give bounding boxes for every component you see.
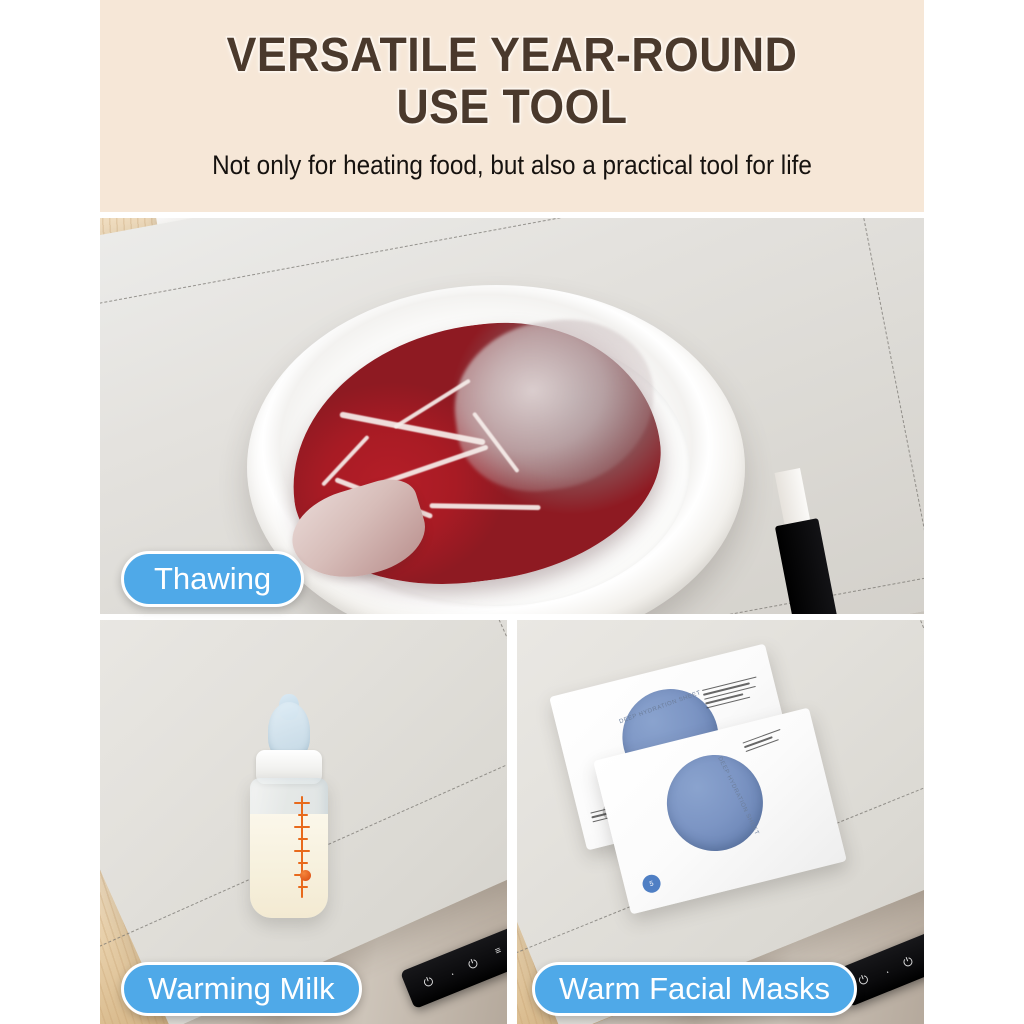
power-icon[interactable]: ⏻ [422,975,435,990]
page-title-line-1: VERSATILE YEAR-ROUND [129,0,895,82]
header-band: VERSATILE YEAR-ROUND USE TOOL Not only f… [100,0,924,212]
page-subtitle: Not only for heating food, but also a pr… [141,134,883,181]
bottle-brand-dot [300,870,311,881]
baby-bottle [246,708,332,920]
timer-icon[interactable]: ⏻ [901,955,914,970]
timer-icon[interactable]: ⏻ [466,957,479,972]
mask-disc [657,745,773,861]
page-title-line-2: USE TOOL [129,82,895,134]
badge-warming-milk[interactable]: Warming Milk [121,962,362,1016]
raw-steak [276,304,674,602]
packet-count-badge: 5 [641,873,663,895]
bottle-body [250,778,328,918]
badge-warm-facial-masks[interactable]: Warm Facial Masks [532,962,857,1016]
power-icon[interactable]: ⏻ [857,973,870,988]
indicator-dot-icon: · [448,967,456,980]
indicator-dot-icon: · [883,965,891,978]
milk-fill [250,814,328,918]
steak-marbling [321,435,369,486]
steak-frost [445,309,664,500]
infographic-page: VERSATILE YEAR-ROUND USE TOOL Not only f… [0,0,1024,1024]
temperature-icon[interactable]: ≡ [494,946,503,957]
badge-thawing[interactable]: Thawing [121,551,304,607]
steak-marbling [430,503,541,510]
